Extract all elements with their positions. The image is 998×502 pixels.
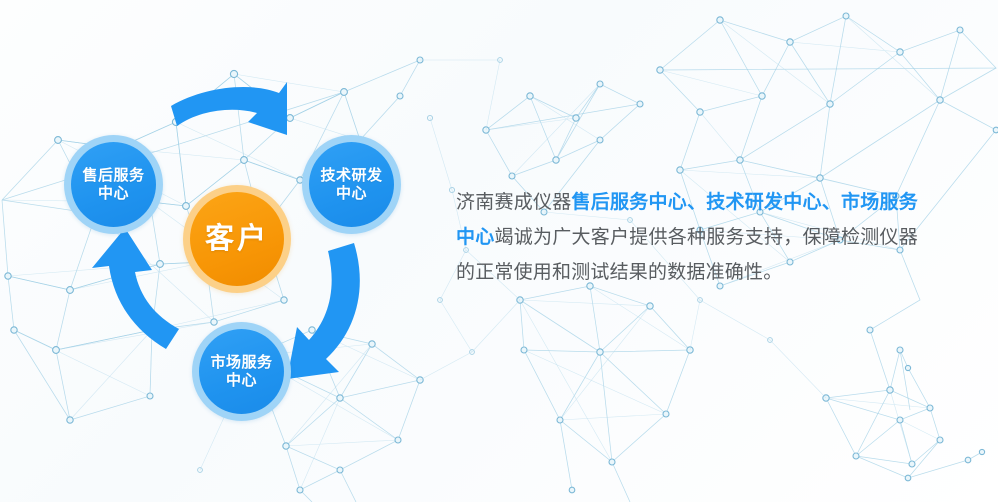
node-market-center-label: 市场服务 中心	[206, 354, 276, 389]
node-rnd-center-label: 技术研发 中心	[316, 167, 386, 202]
arrow-top-icon	[171, 82, 287, 135]
node-after-sales-center-inner: 售后服务 中心	[71, 142, 156, 227]
description-segment-3: 竭诚为广大客户提供各种服务支持，保障检测仪器的正常使用和测试结果的数据准确性。	[456, 227, 918, 283]
node-rnd-center: 技术研发 中心	[302, 135, 401, 234]
arrow-right-icon	[287, 243, 360, 379]
node-customer-label: 客户	[201, 222, 273, 256]
description-segment-1: 济南赛成仪器	[456, 192, 572, 213]
node-market-center-inner: 市场服务 中心	[199, 329, 284, 414]
node-after-sales-center: 售后服务 中心	[64, 135, 163, 234]
node-customer: 客户	[183, 185, 291, 293]
service-center-banner: .ln { stroke:#9ecfe4; stroke-width:0.75;…	[0, 0, 998, 502]
arrow-left-icon	[92, 228, 179, 349]
node-market-center: 市场服务 中心	[192, 322, 291, 421]
node-rnd-center-inner: 技术研发 中心	[309, 142, 394, 227]
description-paragraph: 济南赛成仪器售后服务中心、技术研发中心、市场服务中心竭诚为广大客户提供各种服务支…	[456, 185, 918, 290]
node-after-sales-center-label: 售后服务 中心	[78, 167, 148, 202]
node-customer-inner: 客户	[190, 192, 284, 286]
